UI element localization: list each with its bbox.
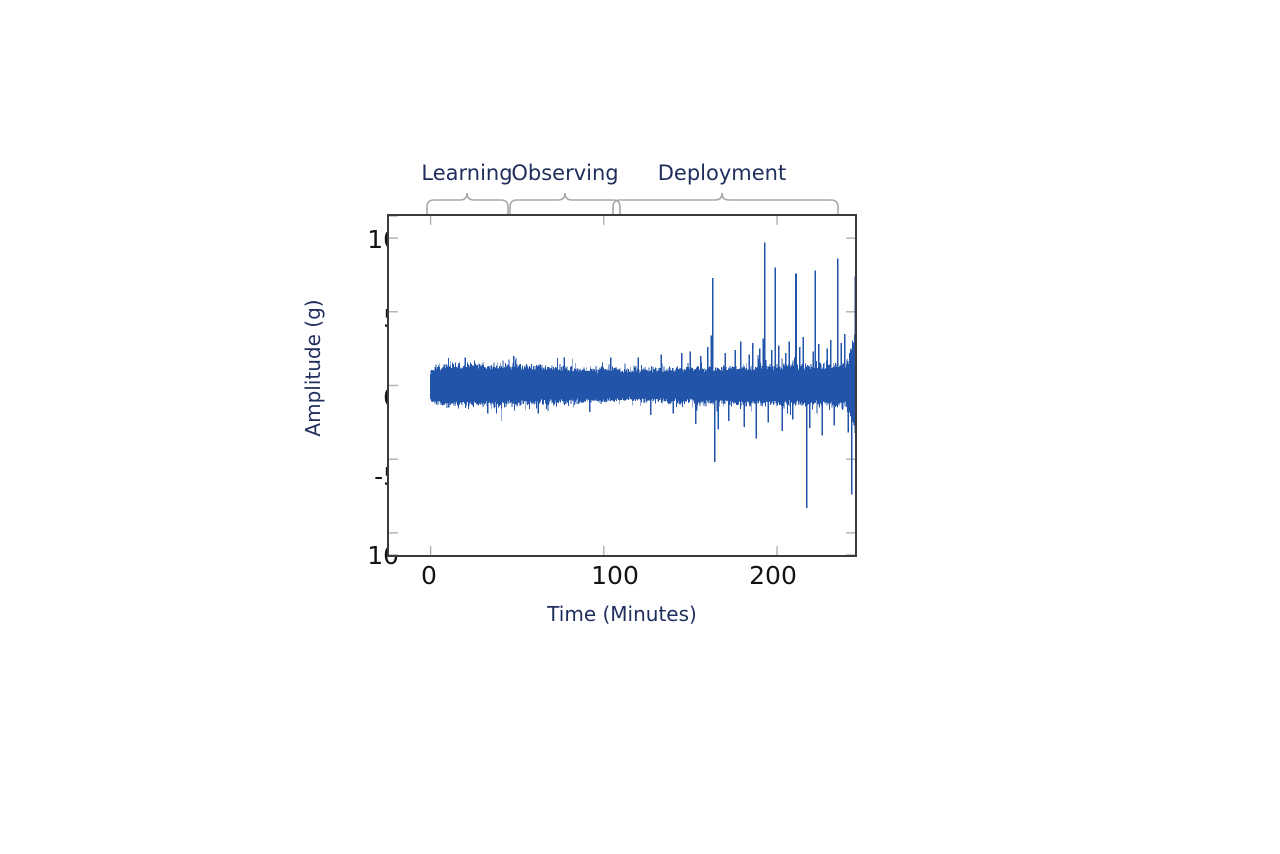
x-axis-title: Time (Minutes): [387, 602, 857, 626]
x-tick-label-0: 0: [389, 562, 469, 590]
phase-brace-group: [380, 180, 860, 214]
x-tick-label-100: 100: [575, 562, 655, 590]
y-axis-title: Amplitude (g): [301, 278, 325, 458]
brace-observing: [510, 193, 620, 214]
x-tick-label-200: 200: [733, 562, 813, 590]
plot-frame: [387, 214, 857, 557]
waveform-path: [431, 243, 855, 508]
signal-trace: [389, 216, 855, 555]
brace-deployment: [613, 193, 838, 214]
vibration-amplitude-figure: Learning Observing Deployment 10 5 0 -5 …: [0, 0, 1280, 854]
brace-learning: [427, 193, 508, 214]
